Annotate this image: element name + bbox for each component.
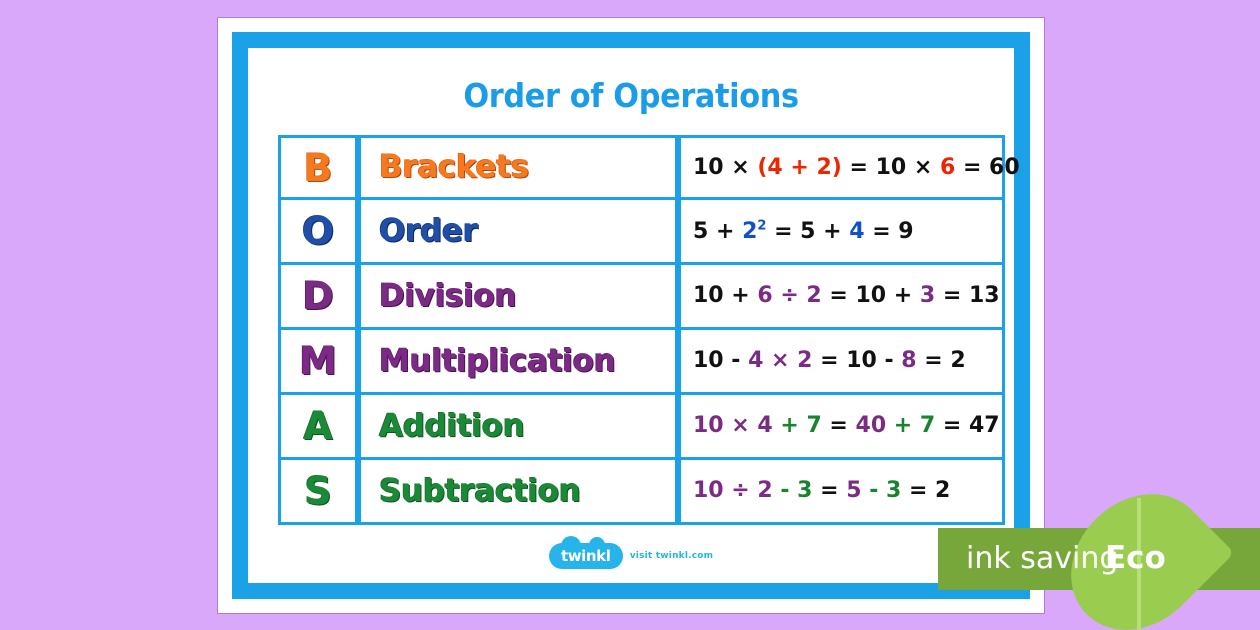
letter-cell: O: [278, 200, 358, 265]
operation-name: Addition: [379, 411, 524, 442]
bodmas-letter: S: [304, 472, 331, 510]
letter-cell: M: [278, 330, 358, 395]
eco-label: Eco: [1105, 541, 1166, 575]
table-row: SSubtraction10 ÷ 2 - 3 = 5 - 3 = 2: [278, 460, 1005, 525]
word-cell: Division: [358, 265, 678, 330]
table-row: BBrackets10 × (4 + 2) = 10 × 6 = 60: [278, 135, 1005, 200]
word-cell: Brackets: [358, 135, 678, 200]
twinkl-wordmark: twinkl: [561, 547, 611, 565]
equation-cell: 5 + 22 = 5 + 4 = 9: [678, 200, 1005, 265]
equation-cell: 10 ÷ 2 - 3 = 5 - 3 = 2: [678, 460, 1005, 525]
equation-cell: 10 - 4 × 2 = 10 - 8 = 2: [678, 330, 1005, 395]
equation-example: 5 + 22 = 5 + 4 = 9: [693, 219, 914, 244]
equation-cell: 10 × 4 + 7 = 40 + 7 = 47: [678, 395, 1005, 460]
letter-cell: D: [278, 265, 358, 330]
bodmas-letter: D: [302, 277, 334, 315]
equation-cell: 10 × (4 + 2) = 10 × 6 = 60: [678, 135, 1005, 200]
poster-page: Order of Operations BBrackets10 × (4 + 2…: [218, 18, 1044, 613]
letter-cell: A: [278, 395, 358, 460]
equation-example: 10 - 4 × 2 = 10 - 8 = 2: [693, 348, 966, 373]
twinkl-logo: twinkl visit twinkl.com: [531, 541, 731, 571]
operation-name: Brackets: [379, 152, 529, 183]
table-row: MMultiplication10 - 4 × 2 = 10 - 8 = 2: [278, 330, 1005, 395]
equation-cell: 10 + 6 ÷ 2 = 10 + 3 = 13: [678, 265, 1005, 330]
operation-name: Multiplication: [379, 346, 615, 377]
bodmas-letter: M: [299, 342, 337, 380]
bodmas-letter: A: [303, 407, 332, 445]
bodmas-letter: O: [302, 212, 334, 250]
table-row: AAddition10 × 4 + 7 = 40 + 7 = 47: [278, 395, 1005, 460]
bodmas-letter: B: [304, 149, 333, 187]
twinkl-visit-url: visit twinkl.com: [630, 551, 714, 561]
equation-example: 10 × (4 + 2) = 10 × 6 = 60: [693, 155, 1020, 180]
word-cell: Subtraction: [358, 460, 678, 525]
operation-name: Subtraction: [379, 476, 581, 507]
poster-blue-frame: Order of Operations BBrackets10 × (4 + 2…: [232, 32, 1030, 599]
bodmas-table: BBrackets10 × (4 + 2) = 10 × 6 = 60OOrde…: [278, 135, 1005, 525]
operation-name: Order: [379, 216, 478, 247]
word-cell: Order: [358, 200, 678, 265]
table-row: DDivision10 + 6 ÷ 2 = 10 + 3 = 13: [278, 265, 1005, 330]
equation-example: 10 ÷ 2 - 3 = 5 - 3 = 2: [693, 478, 950, 503]
twinkl-cloud-icon: twinkl: [549, 543, 623, 569]
equation-example: 10 + 6 ÷ 2 = 10 + 3 = 13: [693, 283, 1000, 308]
word-cell: Addition: [358, 395, 678, 460]
word-cell: Multiplication: [358, 330, 678, 395]
poster-content: Order of Operations BBrackets10 × (4 + 2…: [248, 48, 1014, 583]
operation-name: Division: [379, 281, 516, 312]
eco-badge: ink saving Eco: [938, 528, 1260, 590]
equation-example: 10 × 4 + 7 = 40 + 7 = 47: [693, 413, 1000, 438]
letter-cell: S: [278, 460, 358, 525]
table-row: OOrder5 + 22 = 5 + 4 = 9: [278, 200, 1005, 265]
ink-saving-label: ink saving: [966, 542, 1118, 576]
bodmas-table-body: BBrackets10 × (4 + 2) = 10 × 6 = 60OOrde…: [278, 135, 1005, 525]
page-title: Order of Operations: [306, 76, 956, 115]
letter-cell: B: [278, 135, 358, 200]
